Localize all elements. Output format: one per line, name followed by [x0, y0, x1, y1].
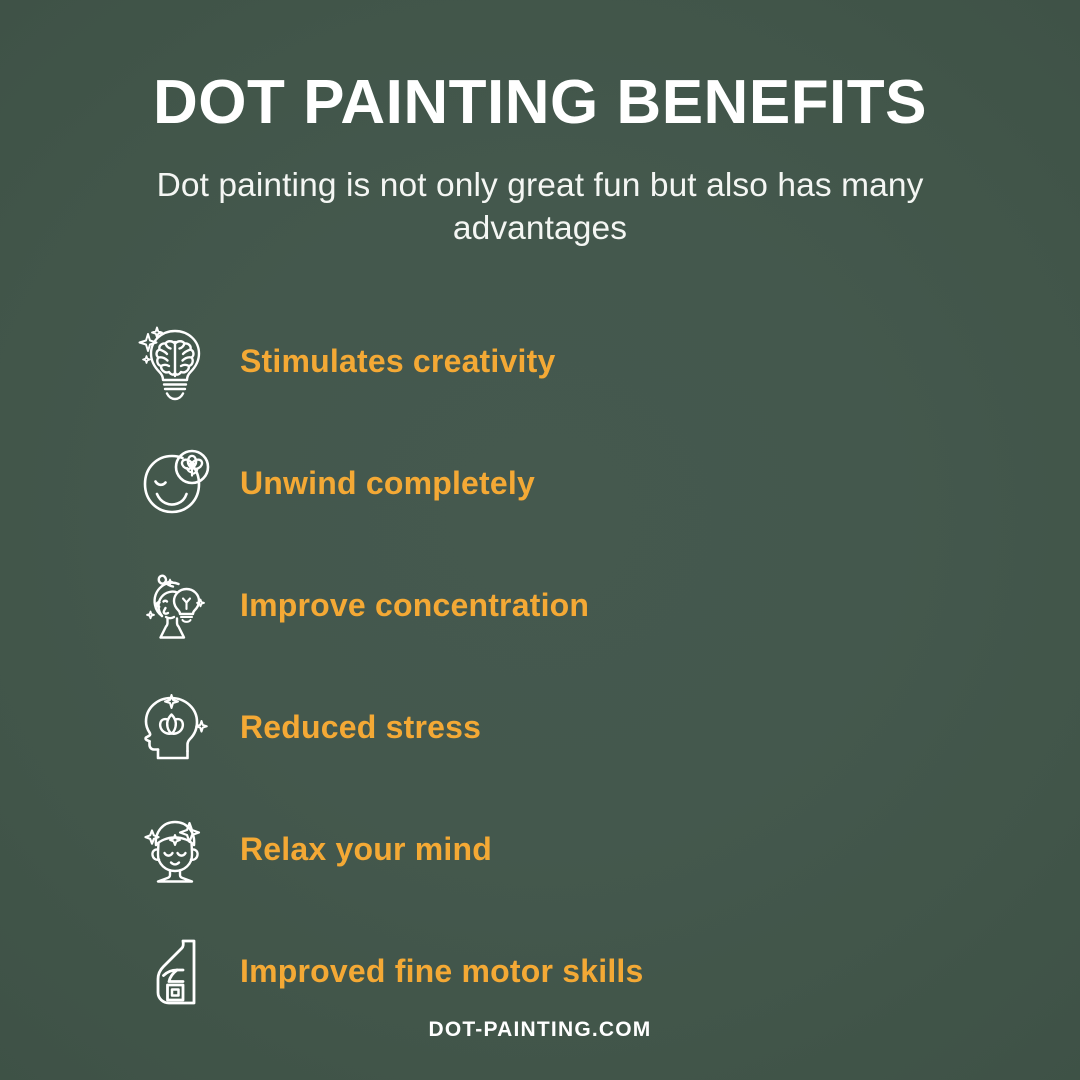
benefit-label: Relax your mind: [240, 831, 492, 868]
benefit-label: Unwind completely: [240, 465, 535, 502]
head-profile-lightbulb-icon: [138, 566, 212, 646]
poster-footer: DOT-PAINTING.COM: [0, 1018, 1080, 1042]
poster-header: DOT PAINTING BENEFITS Dot painting is no…: [0, 70, 1080, 251]
list-item: Relax your mind: [138, 789, 1020, 911]
smiling-face-flower-icon: [138, 444, 212, 524]
hand-holding-pen-icon: [138, 932, 212, 1012]
relaxed-face-stars-icon: [138, 810, 212, 890]
poster-canvas: DOT PAINTING BENEFITS Dot painting is no…: [0, 0, 1080, 1080]
list-item: Improved fine motor skills: [138, 911, 1020, 1033]
benefit-label: Reduced stress: [240, 709, 481, 746]
benefits-list: Stimulates creativity: [0, 301, 1080, 1033]
benefit-label: Improve concentration: [240, 587, 589, 624]
head-lotus-icon: [138, 688, 212, 768]
benefit-label: Improved fine motor skills: [240, 953, 644, 990]
lightbulb-brain-icon: [138, 322, 212, 402]
list-item: Stimulates creativity: [138, 301, 1020, 423]
list-item: Improve concentration: [138, 545, 1020, 667]
website-url[interactable]: DOT-PAINTING.COM: [429, 1018, 652, 1041]
benefit-label: Stimulates creativity: [240, 343, 555, 380]
page-title: DOT PAINTING BENEFITS: [70, 70, 1010, 135]
list-item: Reduced stress: [138, 667, 1020, 789]
list-item: Unwind completely: [138, 423, 1020, 545]
page-subtitle: Dot painting is not only great fun but a…: [145, 165, 935, 251]
